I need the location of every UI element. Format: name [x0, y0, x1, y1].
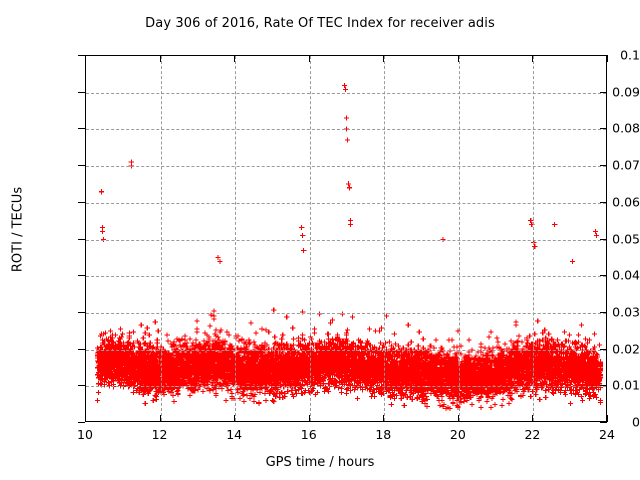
x-tick-mark-top: [85, 55, 86, 62]
gridline-horizontal: [86, 166, 606, 167]
chart-title: Day 306 of 2016, Rate Of TEC Index for r…: [0, 16, 640, 31]
y-tick-label: 0.03: [562, 304, 640, 319]
y-tick-label: 0.08: [562, 121, 640, 136]
chart-container: Day 306 of 2016, Rate Of TEC Index for r…: [0, 0, 640, 480]
x-tick-label: 16: [279, 427, 339, 442]
y-tick-mark: [78, 349, 85, 350]
x-tick-mark-top: [458, 55, 459, 62]
gridline-vertical: [161, 56, 162, 421]
y-tick-label: 0.05: [562, 231, 640, 246]
gridline-vertical: [533, 56, 534, 421]
scatter-points-layer: [86, 56, 606, 421]
x-tick-mark: [234, 415, 235, 422]
y-tick-label: 0.09: [562, 84, 640, 99]
y-tick-label: 0.04: [562, 268, 640, 283]
y-tick-label: 0.06: [562, 194, 640, 209]
y-tick-mark: [78, 165, 85, 166]
gridline-vertical: [459, 56, 460, 421]
y-tick-mark: [78, 312, 85, 313]
x-tick-label: 14: [204, 427, 264, 442]
x-tick-mark: [532, 415, 533, 422]
x-tick-mark-top: [234, 55, 235, 62]
plot-area: [85, 55, 607, 422]
y-axis-label: ROTI / TECUs: [11, 150, 26, 310]
x-tick-label: 10: [55, 427, 115, 442]
y-tick-mark: [78, 422, 85, 423]
gridline-horizontal: [86, 240, 606, 241]
x-axis-label: GPS time / hours: [0, 455, 640, 470]
gridline-horizontal: [86, 350, 606, 351]
x-tick-mark: [458, 415, 459, 422]
y-tick-mark: [78, 92, 85, 93]
gridline-horizontal: [86, 313, 606, 314]
x-tick-mark-top: [532, 55, 533, 62]
y-tick-mark: [78, 128, 85, 129]
x-tick-mark-top: [383, 55, 384, 62]
x-tick-mark: [85, 415, 86, 422]
gridline-vertical: [384, 56, 385, 421]
y-tick-label: 0.1: [562, 48, 640, 63]
x-tick-mark: [607, 415, 608, 422]
x-tick-mark-top: [607, 55, 608, 62]
x-tick-mark-top: [309, 55, 310, 62]
y-tick-mark: [78, 239, 85, 240]
scatter-marker-set: [95, 83, 603, 411]
x-tick-label: 20: [428, 427, 488, 442]
gridline-horizontal: [86, 386, 606, 387]
x-tick-mark: [160, 415, 161, 422]
gridline-horizontal: [86, 129, 606, 130]
y-tick-mark: [78, 275, 85, 276]
y-tick-label: 0.07: [562, 158, 640, 173]
x-tick-mark-top: [160, 55, 161, 62]
gridline-vertical: [310, 56, 311, 421]
x-tick-mark: [383, 415, 384, 422]
x-tick-label: 18: [353, 427, 413, 442]
gridline-horizontal: [86, 276, 606, 277]
gridline-vertical: [235, 56, 236, 421]
x-tick-label: 22: [502, 427, 562, 442]
y-tick-label: 0.02: [562, 341, 640, 356]
gridline-horizontal: [86, 203, 606, 204]
y-tick-mark: [78, 202, 85, 203]
y-tick-mark: [78, 55, 85, 56]
x-tick-label: 24: [577, 427, 637, 442]
y-tick-mark: [78, 385, 85, 386]
y-tick-label: 0.01: [562, 378, 640, 393]
x-tick-mark: [309, 415, 310, 422]
x-tick-label: 12: [130, 427, 190, 442]
gridline-horizontal: [86, 93, 606, 94]
